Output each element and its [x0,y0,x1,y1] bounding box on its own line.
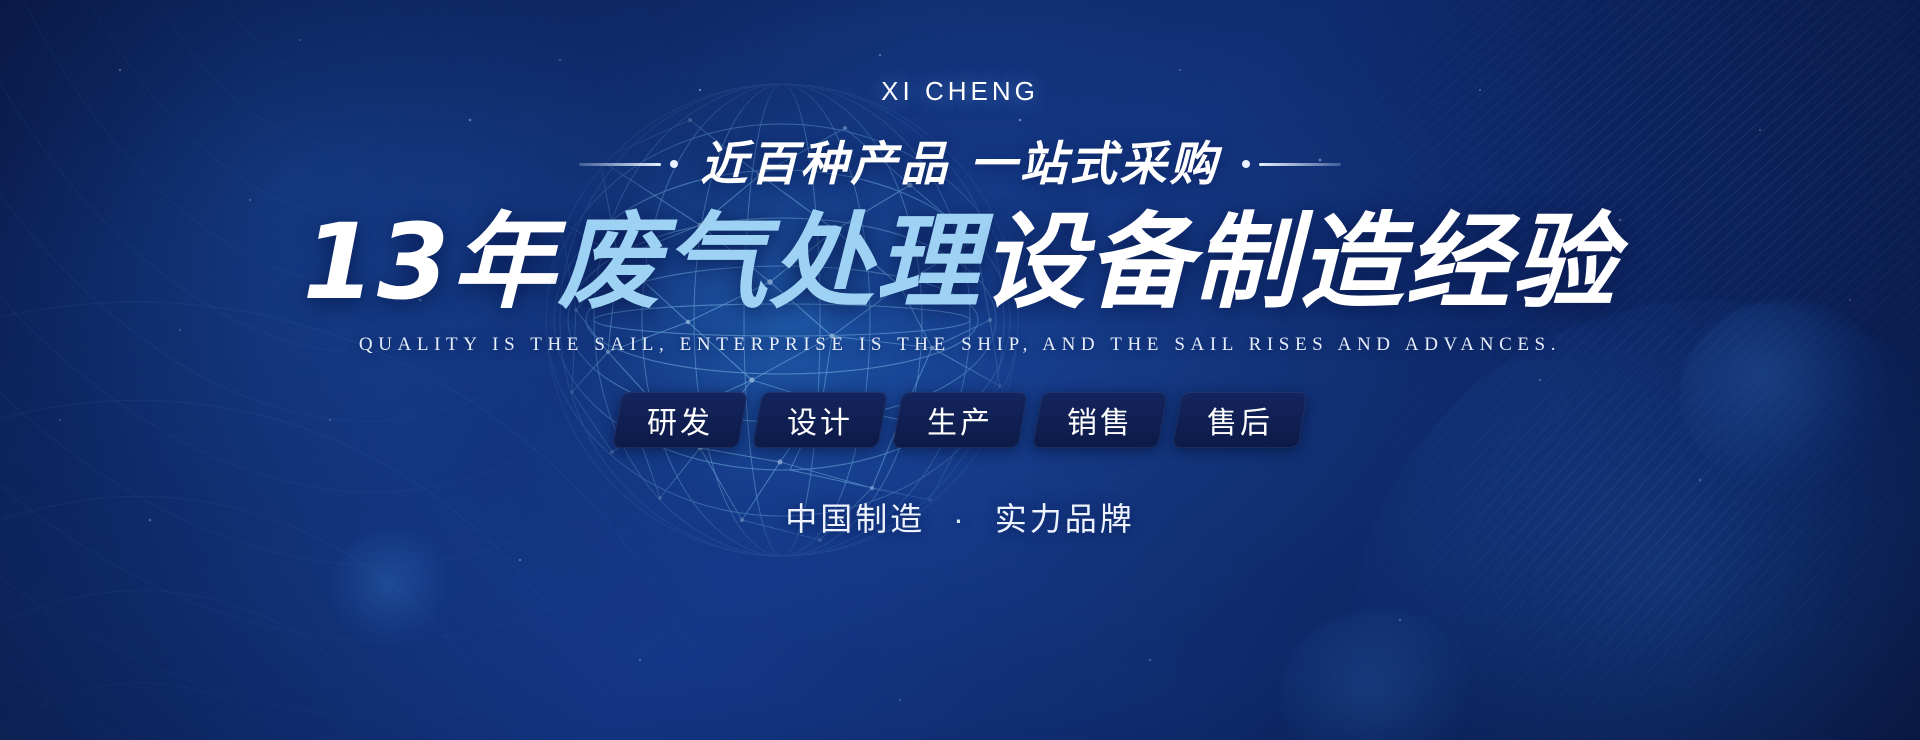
service-pill-aftersales[interactable]: 售后 [1172,392,1308,448]
service-pill-rd[interactable]: 研发 [612,392,748,448]
footer-left-text: 中国制造 [785,501,925,537]
ornament-left-line-dot [579,160,678,168]
banner-content: XI CHENG 近百种产品 一站式采购 13年废气处理设备制造经验 QUALI… [0,0,1920,740]
subtitle-row: 近百种产品 一站式采购 [579,134,1340,194]
footer-right-text: 实力品牌 [995,501,1135,537]
service-pill-production[interactable]: 生产 [892,392,1028,448]
banner-subtitle: 近百种产品 一站式采购 [700,141,1219,188]
service-pill-label: 销售 [1067,398,1133,442]
hero-banner: XI CHENG 近百种产品 一站式采购 13年废气处理设备制造经验 QUALI… [0,0,1920,740]
ornament-dot [670,160,678,168]
ornament-dot [1242,160,1250,168]
headline-rest: 设备制造经验 [981,201,1617,323]
headline-highlight: 废气处理 [557,201,981,323]
service-pill-label: 研发 [647,398,713,442]
brand-name-en: XI CHENG [881,78,1039,104]
service-pill-group: 研发 设计 生产 销售 售后 [617,392,1303,448]
service-pill-label: 生产 [927,398,993,442]
footer-separator-dot: · [953,501,967,537]
headline-years: 13年 [303,201,558,323]
service-pill-label: 售后 [1207,398,1273,442]
ornament-bar [579,163,661,166]
service-pill-design[interactable]: 设计 [752,392,888,448]
banner-tagline-en: QUALITY IS THE SAIL, ENTERPRISE IS THE S… [359,334,1561,356]
service-pill-sales[interactable]: 销售 [1032,392,1168,448]
ornament-right-dot-line [1242,160,1341,168]
banner-footer-line: 中国制造 · 实力品牌 [785,494,1134,540]
ornament-bar [1259,163,1341,166]
service-pill-label: 设计 [787,398,853,442]
banner-headline: 13年废气处理设备制造经验 [303,204,1618,320]
